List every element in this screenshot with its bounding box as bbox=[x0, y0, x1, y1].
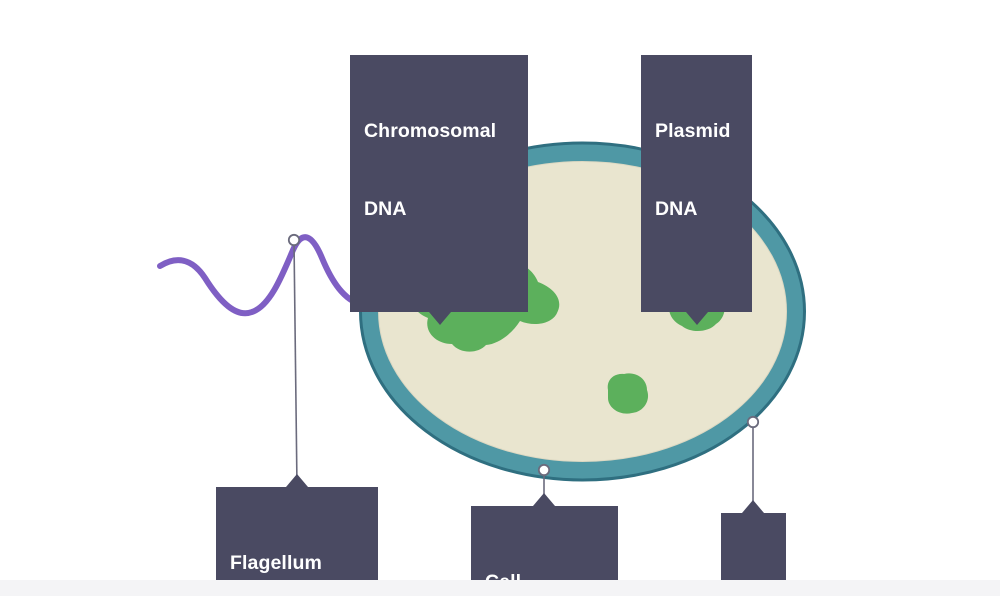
marker-flagellum bbox=[289, 235, 299, 245]
label-chromosomal-dna-line-2: DNA bbox=[364, 196, 514, 222]
callout-notch-plasmid bbox=[686, 312, 708, 325]
label-plasmid-dna-line-1: Plasmid bbox=[655, 118, 738, 144]
callout-notch-chromosomal bbox=[429, 312, 451, 325]
diagram-canvas: Chromosomal DNA Plasmid DNA Flagellum (n… bbox=[0, 0, 1000, 596]
label-chromosomal-dna-line-1: Chromosomal bbox=[364, 118, 514, 144]
label-plasmid-dna[interactable]: Plasmid DNA bbox=[641, 55, 752, 312]
page-bottom-strip bbox=[0, 580, 1000, 596]
label-plasmid-dna-line-2: DNA bbox=[655, 196, 738, 222]
leader-line-flagellum bbox=[294, 241, 297, 487]
plasmid-dna-blob-2 bbox=[608, 373, 648, 413]
label-chromosomal-dna[interactable]: Chromosomal DNA bbox=[350, 55, 528, 312]
callout-notch-flagellum bbox=[286, 474, 308, 487]
callout-notch-wall bbox=[742, 500, 764, 513]
marker-cell-wall bbox=[748, 417, 758, 427]
flagellum-line bbox=[160, 237, 362, 313]
marker-cell-membrane bbox=[539, 465, 549, 475]
callout-notch-membrane bbox=[533, 493, 555, 506]
label-flagellum-line-1: Flagellum bbox=[230, 550, 364, 576]
